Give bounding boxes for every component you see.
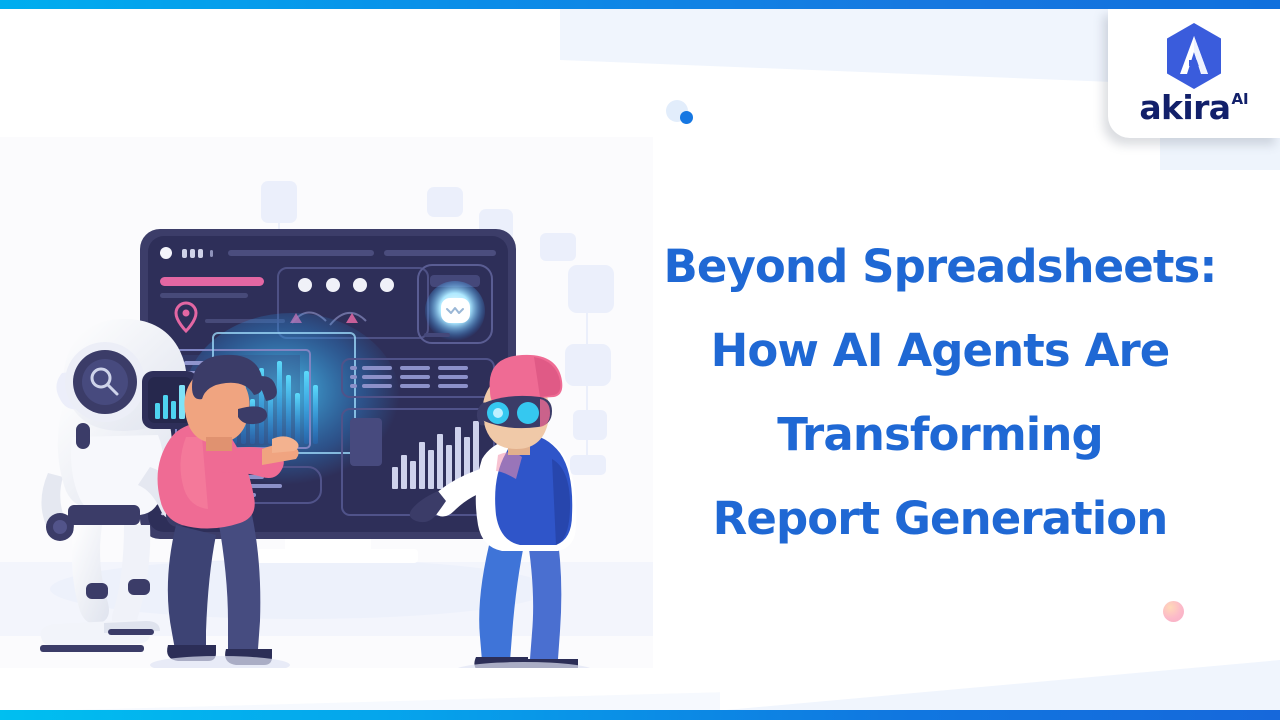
- hero-illustration: [0, 137, 653, 668]
- headline-line-1: Beyond Spreadsheets:: [660, 225, 1220, 309]
- background-diagonal-band-bottom-left: [0, 690, 720, 712]
- top-accent-bar: [0, 0, 1280, 9]
- brand-logo-card[interactable]: akira AI: [1108, 8, 1280, 138]
- headline-line-2: How AI Agents Are: [660, 309, 1220, 393]
- page-title: Beyond Spreadsheets: How AI Agents Are T…: [660, 225, 1220, 561]
- brand-wordmark-superscript: AI: [1231, 92, 1248, 107]
- brand-wordmark-text: akira: [1139, 91, 1230, 124]
- decorative-dot-pink: [1163, 601, 1184, 622]
- headline-line-3: Transforming: [660, 393, 1220, 477]
- decorative-dot-blue: [680, 111, 693, 124]
- poster-canvas: Beyond Spreadsheets: How AI Agents Are T…: [0, 0, 1280, 720]
- akira-hexagon-a-logo-icon: [1163, 22, 1225, 90]
- brand-wordmark: akira AI: [1139, 91, 1248, 124]
- headline-line-4: Report Generation: [660, 477, 1220, 561]
- bottom-accent-bar: [0, 710, 1280, 720]
